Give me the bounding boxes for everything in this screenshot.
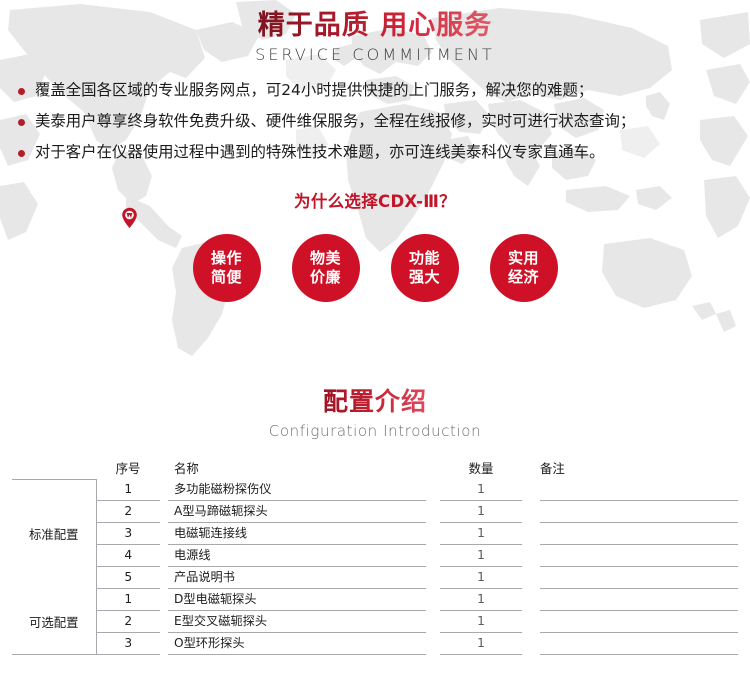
cell-qty-value: 1 — [440, 633, 522, 655]
cell-qty-value: 1 — [440, 567, 522, 589]
commitment-text: 对于客户在仪器使用过程中遇到的特殊性技术难题，亦可连线美泰科仪专家直通车。 — [35, 142, 604, 164]
cell-no-value: 5 — [97, 567, 161, 589]
feature-badge: 实用 经济 — [490, 234, 558, 302]
cell-name-value: 多功能磁粉探伤仪 — [168, 479, 426, 501]
badge-line-1: 功能 — [409, 249, 440, 267]
cell-remark — [532, 611, 738, 633]
cell-qty: 1 — [440, 633, 532, 655]
feature-badges: 操作 简便 物美 价廉 功能 强大 实用 经济 — [0, 234, 750, 302]
list-item: 美泰用户尊享终身软件免费升级、硬件维保服务，全程在线报修，实时可进行状态查询； — [18, 111, 740, 133]
feature-badge: 操作 简便 — [193, 234, 261, 302]
cell-remark — [532, 633, 738, 655]
cell-qty: 1 — [440, 567, 532, 589]
why-choose-heading: 为什么选择CDX-Ⅲ？ — [0, 188, 750, 212]
cell-name: A型马蹄磁轭探头 — [168, 501, 440, 523]
cell-no: 2 — [96, 611, 168, 633]
column-header-remark-label: 备注 — [540, 458, 738, 479]
table-row: 4 电源线 1 — [12, 545, 738, 567]
badge-line-2: 经济 — [508, 268, 539, 286]
table-row: 标准配置 1 多功能磁粉探伤仪 1 — [12, 479, 738, 501]
table-row: 5 产品说明书 1 — [12, 567, 738, 589]
cell-no-value: 3 — [97, 523, 161, 545]
column-header-name: 名称 — [168, 457, 440, 479]
badge-line-1: 实用 — [508, 249, 539, 267]
cell-remark-value — [540, 567, 738, 589]
page-title-block: 精于品质 用心服务 SERVICE COMMITMENT — [0, 0, 750, 64]
cell-name: 电磁轭连接线 — [168, 523, 440, 545]
list-item: 对于客户在仪器使用过程中遇到的特殊性技术难题，亦可连线美泰科仪专家直通车。 — [18, 142, 740, 164]
cell-remark — [532, 501, 738, 523]
cell-qty-value: 1 — [440, 611, 522, 633]
cell-no-value: 4 — [97, 545, 161, 567]
cell-name-value: D型电磁轭探头 — [168, 589, 426, 611]
cell-remark-value — [540, 479, 738, 501]
cell-no: 3 — [96, 633, 168, 655]
cell-name: 产品说明书 — [168, 567, 440, 589]
configuration-title-block: 配置介绍 Configuration Introduction — [0, 382, 750, 440]
page-subtitle: SERVICE COMMITMENT — [0, 45, 750, 64]
cell-qty-value: 1 — [440, 523, 522, 545]
column-header-group — [12, 457, 96, 479]
configuration-subtitle: Configuration Introduction — [0, 422, 750, 440]
column-header-qty-label: 数量 — [440, 458, 522, 479]
cell-name-value: O型环形探头 — [168, 633, 426, 655]
dot-icon — [18, 150, 25, 157]
cell-name-value: 产品说明书 — [168, 567, 426, 589]
cell-remark — [532, 523, 738, 545]
cell-remark — [532, 545, 738, 567]
table-row: 3 电磁轭连接线 1 — [12, 523, 738, 545]
table-row: 2 A型马蹄磁轭探头 1 — [12, 501, 738, 523]
cell-no: 5 — [96, 567, 168, 589]
table-row: 3 O型环形探头 1 — [12, 633, 738, 655]
cell-no-value: 2 — [97, 611, 161, 633]
cell-no-value: 2 — [97, 501, 161, 523]
cell-qty: 1 — [440, 589, 532, 611]
cell-remark-value — [540, 611, 738, 633]
cell-remark-value — [540, 589, 738, 611]
cell-no: 2 — [96, 501, 168, 523]
cell-no-value: 3 — [97, 633, 161, 655]
list-item: 覆盖全国各区域的专业服务网点，可24小时提供快捷的上门服务，解决您的难题； — [18, 80, 740, 102]
cell-remark-value — [540, 501, 738, 523]
page-title: 精于品质 用心服务 — [258, 10, 492, 41]
column-header-no-label: 序号 — [96, 458, 160, 479]
cell-remark — [532, 589, 738, 611]
cell-qty-value: 1 — [440, 545, 522, 567]
group-label-standard: 标准配置 — [12, 479, 96, 589]
cell-name-value: 电磁轭连接线 — [168, 523, 426, 545]
cell-remark — [532, 479, 738, 501]
cell-no: 4 — [96, 545, 168, 567]
cell-name-value: 电源线 — [168, 545, 426, 567]
group-label-optional: 可选配置 — [12, 589, 96, 655]
cell-qty: 1 — [440, 523, 532, 545]
column-header-remark: 备注 — [532, 457, 738, 479]
feature-badge: 功能 强大 — [391, 234, 459, 302]
column-header-qty: 数量 — [440, 457, 532, 479]
table-row: 可选配置 1 D型电磁轭探头 1 — [12, 589, 738, 611]
cell-remark-value — [540, 545, 738, 567]
column-header-name-label: 名称 — [168, 458, 426, 479]
cell-qty: 1 — [440, 501, 532, 523]
configuration-section: 配置介绍 Configuration Introduction 序号 名称 数量… — [0, 382, 750, 655]
cell-name-value: A型马蹄磁轭探头 — [168, 501, 426, 523]
feature-badge: 物美 价廉 — [292, 234, 360, 302]
commitment-text: 美泰用户尊享终身软件免费升级、硬件维保服务，全程在线报修，实时可进行状态查询； — [35, 111, 635, 133]
commitment-text: 覆盖全国各区域的专业服务网点，可24小时提供快捷的上门服务，解决您的难题； — [35, 80, 593, 102]
service-commitment-hero: 精于品质 用心服务 SERVICE COMMITMENT 覆盖全国各区域的专业服… — [0, 0, 750, 362]
table-header-row: 序号 名称 数量 备注 — [12, 457, 738, 479]
cell-qty-value: 1 — [440, 589, 522, 611]
badge-line-2: 价廉 — [310, 268, 341, 286]
cell-qty-value: 1 — [440, 501, 522, 523]
cell-name-value: E型交叉磁轭探头 — [168, 611, 426, 633]
dot-icon — [18, 88, 25, 95]
cell-remark — [532, 567, 738, 589]
dot-icon — [18, 119, 25, 126]
cell-qty-value: 1 — [440, 479, 522, 501]
cell-name: D型电磁轭探头 — [168, 589, 440, 611]
cell-remark-value — [540, 523, 738, 545]
table-header: 序号 名称 数量 备注 — [12, 457, 738, 479]
cell-name: E型交叉磁轭探头 — [168, 611, 440, 633]
cell-name: 多功能磁粉探伤仪 — [168, 479, 440, 501]
table-body: 标准配置 1 多功能磁粉探伤仪 1 2 A型马蹄磁轭探头 1 3 电磁轭连接线 … — [12, 479, 738, 655]
cell-name: 电源线 — [168, 545, 440, 567]
configuration-table: 序号 名称 数量 备注 标准配置 1 多功能磁粉探伤仪 1 2 A型马蹄磁轭探头… — [12, 457, 739, 655]
cell-no: 1 — [96, 479, 168, 501]
cell-qty: 1 — [440, 479, 532, 501]
cell-qty: 1 — [440, 611, 532, 633]
configuration-title: 配置介绍 — [323, 382, 427, 418]
badge-line-1: 操作 — [211, 249, 242, 267]
cell-name: O型环形探头 — [168, 633, 440, 655]
cell-qty: 1 — [440, 545, 532, 567]
badge-line-1: 物美 — [310, 249, 341, 267]
cell-no: 1 — [96, 589, 168, 611]
cell-no-value: 1 — [97, 479, 161, 501]
badge-line-2: 强大 — [409, 268, 440, 286]
cell-no: 3 — [96, 523, 168, 545]
table-row: 2 E型交叉磁轭探头 1 — [12, 611, 738, 633]
cell-remark-value — [540, 633, 738, 655]
cell-no-value: 1 — [97, 589, 161, 611]
commitment-list: 覆盖全国各区域的专业服务网点，可24小时提供快捷的上门服务，解决您的难题； 美泰… — [0, 80, 750, 164]
badge-line-2: 简便 — [211, 268, 242, 286]
column-header-no: 序号 — [96, 457, 168, 479]
